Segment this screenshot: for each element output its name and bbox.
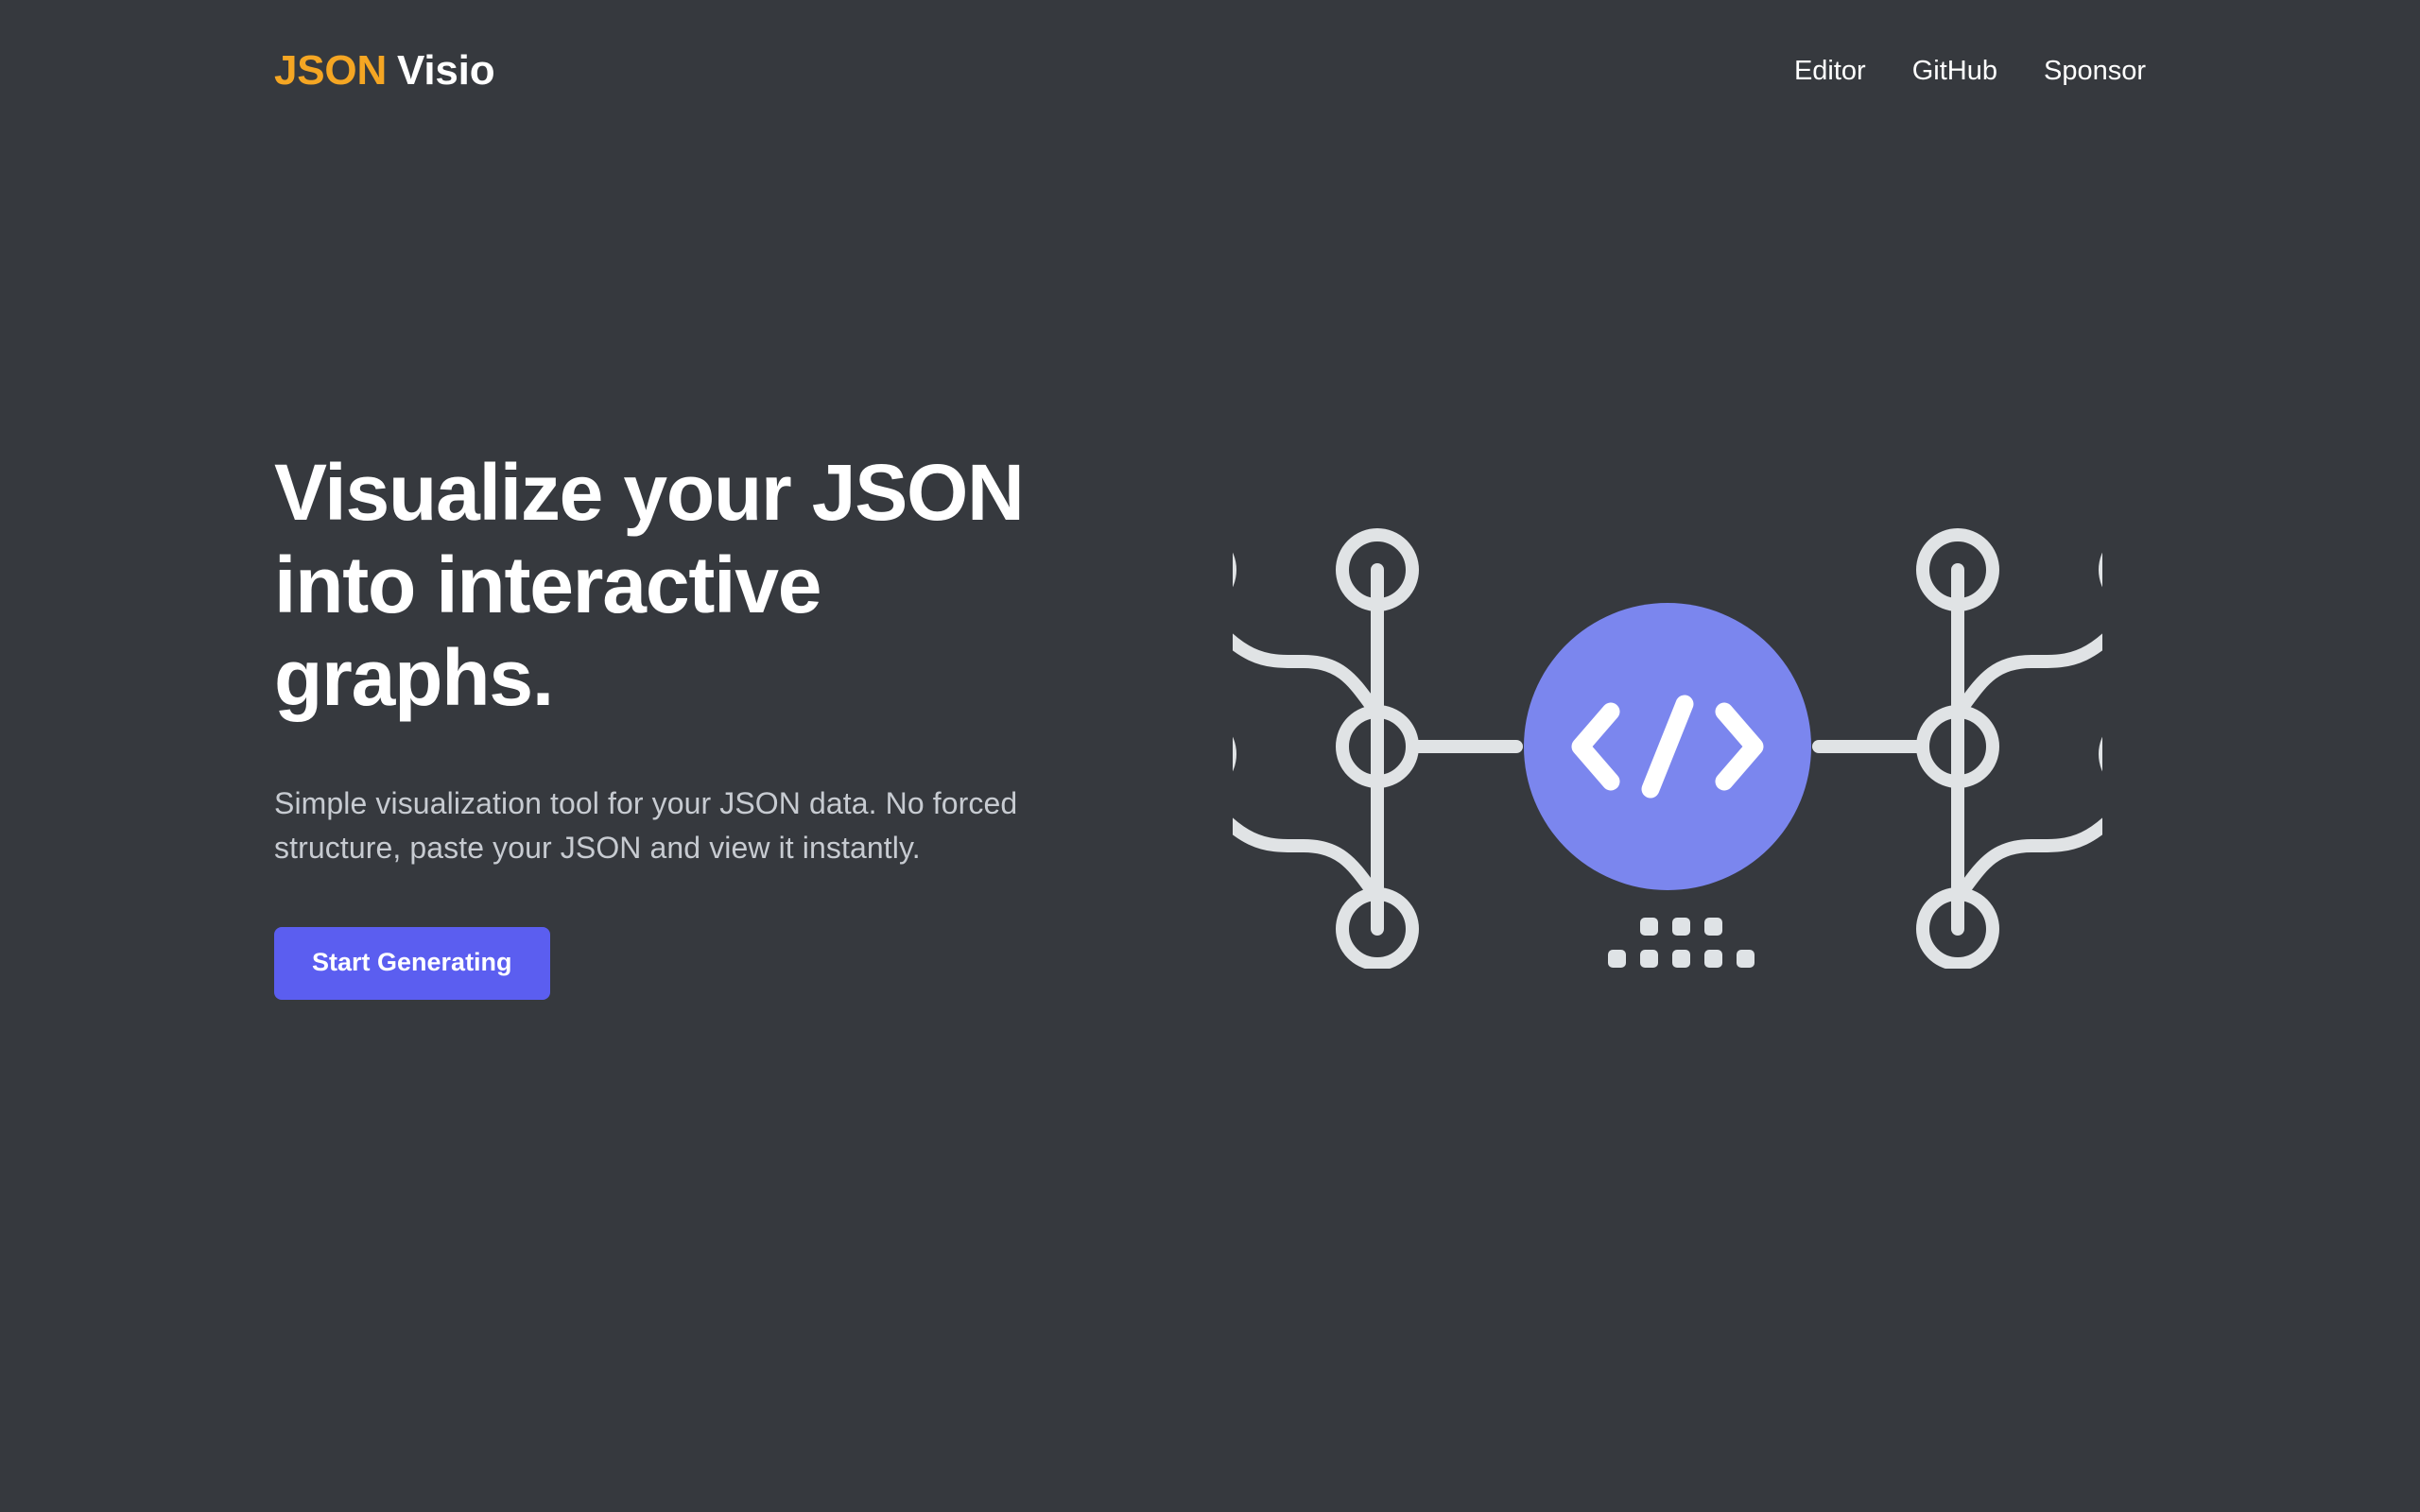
page-title: Visualize your JSON into interactive gra… [274, 446, 1087, 725]
edge-right-outer-bottom [1958, 784, 2102, 898]
hero-copy: Visualize your JSON into interactive gra… [274, 446, 1097, 1001]
hero-subtitle: Simple visualization tool for your JSON … [274, 782, 1059, 871]
json-graph-illustration [1233, 477, 2102, 969]
landing-page: JSONVisio Editor GitHub Sponsor Visualiz… [0, 0, 2420, 1512]
edge-left-outer-top [1233, 600, 1377, 713]
edge-left-outer-bottom [1233, 784, 1377, 898]
start-generating-button[interactable]: Start Generating [274, 927, 550, 1000]
hero-section: Visualize your JSON into interactive gra… [0, 0, 2420, 1512]
dot-matrix-icon [1608, 918, 1754, 968]
hero-illustration [1233, 477, 2102, 969]
edge-right-outer-top [1958, 600, 2102, 713]
